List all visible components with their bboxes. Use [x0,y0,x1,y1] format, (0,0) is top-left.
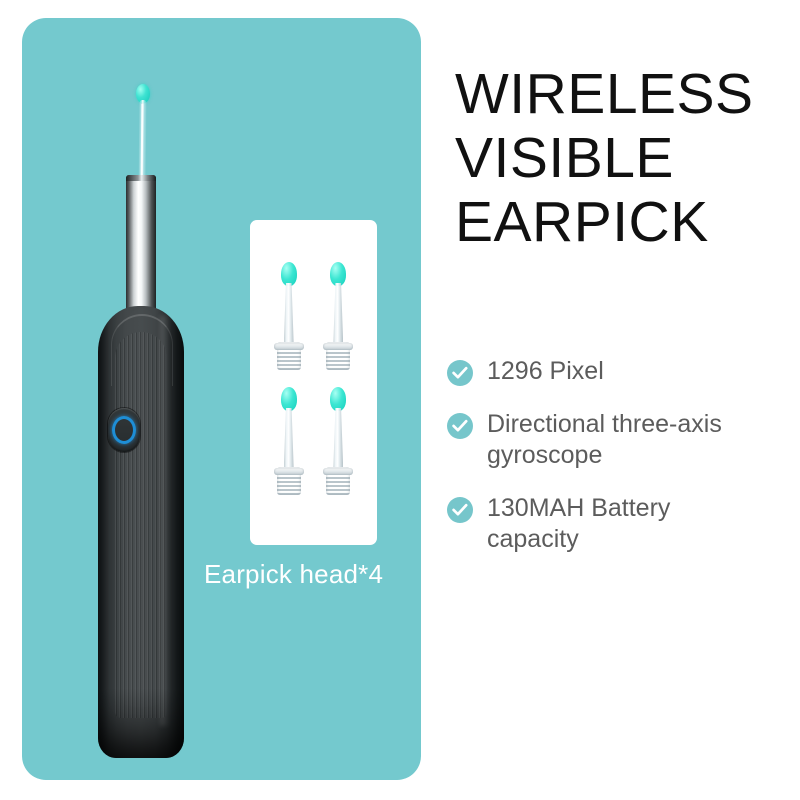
feature-label: 130MAH Battery capacity [487,493,767,555]
earpick-head-stem [284,283,294,345]
earpick-head-stem [333,283,343,345]
accessory-tip-grid [250,220,377,545]
earpick-head-icon [321,262,355,374]
accessory-caption: Earpick head*4 [204,559,434,590]
accessory-tip-item [264,387,314,512]
feature-label: 1296 Pixel [487,356,604,387]
check-icon [447,497,473,523]
feature-item: Directional three-axis gyroscope [447,409,767,471]
power-icon [112,416,136,444]
earpick-head-icon [272,387,306,499]
earpick-head-silicone [281,387,297,411]
earpick-head-silicone [330,262,346,286]
earpick-head-base [277,342,301,370]
device-shaft-collar [126,175,156,181]
page-title: WIRELESS VISIBLE EARPICK [455,62,775,254]
handle-bottom-shadow [98,688,184,758]
headline-line-3: EARPICK [455,190,775,254]
earpick-head-icon [272,262,306,374]
accessory-tip-item [264,262,314,387]
check-icon [447,413,473,439]
headline-line-2: VISIBLE [455,126,775,190]
earpick-head-base [326,467,350,495]
device-handle [98,306,184,758]
feature-item: 130MAH Battery capacity [447,493,767,555]
earpick-device [82,68,222,768]
earpick-head-base [326,342,350,370]
earpick-head-silicone [281,262,297,286]
feature-list: 1296 Pixel Directional three-axis gyrosc… [447,356,767,577]
earpick-head-base [277,467,301,495]
product-photo-panel: Earpick head*4 [22,18,421,780]
earpick-head-stem [284,408,294,470]
handle-gloss-highlight [160,316,170,726]
feature-item: 1296 Pixel [447,356,767,387]
feature-label: Directional three-axis gyroscope [487,409,767,471]
earpick-head-stem [333,408,343,470]
headline-line-1: WIRELESS [455,62,775,126]
accessory-card [250,220,377,545]
accessory-tip-item [314,387,364,512]
earpick-head-icon [321,387,355,499]
device-tip-stem [139,100,147,182]
product-marketing-image: Earpick head*4 WIRELESS VISIBLE EARPICK … [0,0,800,800]
accessory-tip-item [314,262,364,387]
power-button[interactable] [108,408,140,452]
earpick-head-silicone [330,387,346,411]
check-icon [447,360,473,386]
